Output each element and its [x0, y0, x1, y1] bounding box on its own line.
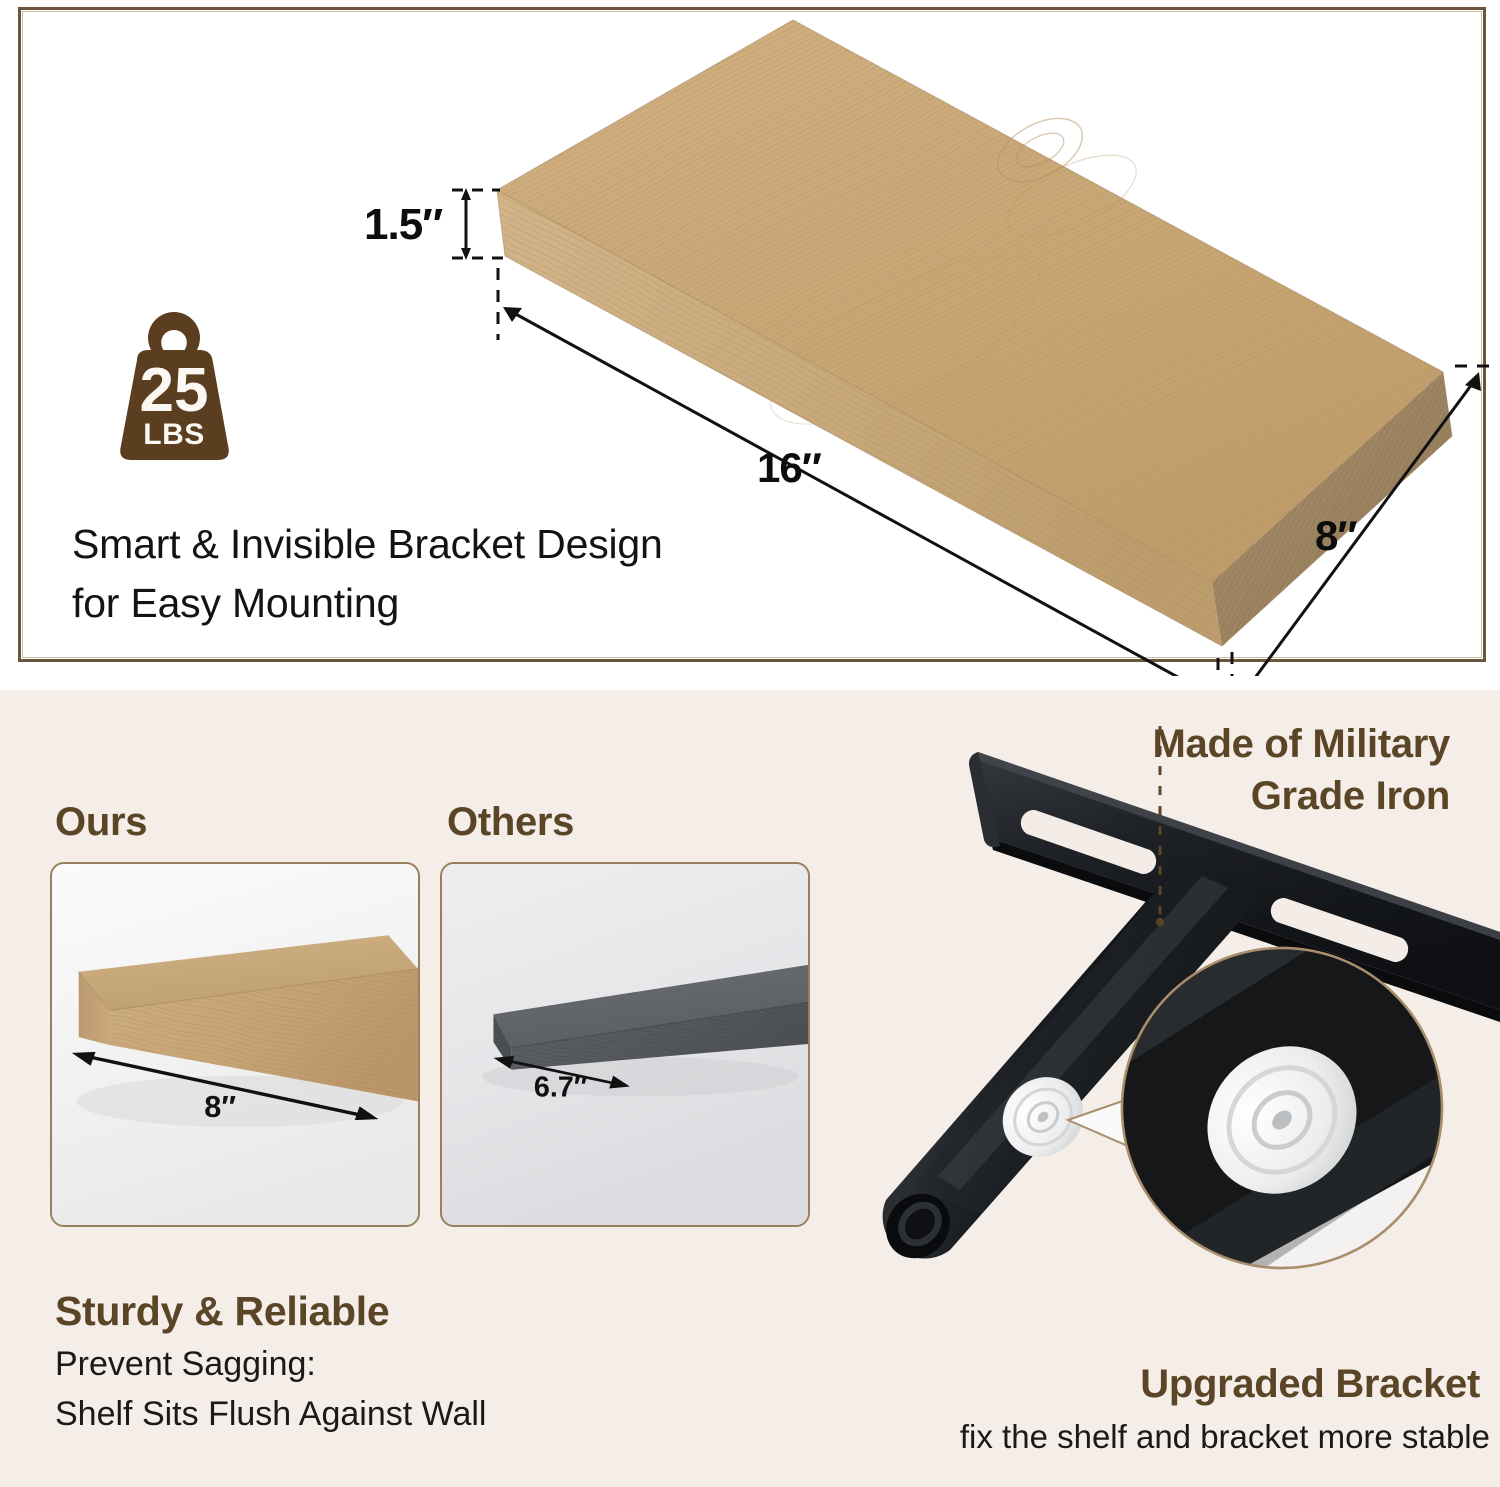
ours-shelf-photo: 8″	[52, 864, 418, 1225]
weight-capacity-badge: 25 LBS	[104, 306, 244, 474]
dimension-label-length: 16″	[757, 444, 821, 492]
sturdy-title: Sturdy & Reliable	[55, 1288, 389, 1335]
iron-line-2: Grade Iron	[1251, 774, 1450, 818]
weight-icon: 25 LBS	[104, 306, 244, 474]
headline-line-2: for Easy Mounting	[72, 574, 902, 633]
upgraded-bracket-title: Upgraded Bracket	[800, 1362, 1480, 1407]
dimension-label-depth: 8″	[1315, 512, 1356, 560]
headline: Smart & Invisible Bracket Design for Eas…	[72, 515, 902, 634]
comparison-label-ours: Ours	[55, 800, 147, 845]
comparison-photo-others: 6.7″	[440, 862, 810, 1227]
comparison-label-others: Others	[447, 800, 574, 845]
product-infographic: 25 LBS 25 LBS Smart & Invisible Bracket …	[0, 0, 1500, 1487]
top-panel: 25 LBS 25 LBS Smart & Invisible Bracket …	[0, 0, 1500, 676]
dimension-label-thickness: 1.5″	[364, 200, 442, 250]
iron-line-1: Made of Military	[1153, 722, 1450, 766]
svg-text:6.7″: 6.7″	[534, 1071, 588, 1103]
upgraded-bracket-subtitle: fix the shelf and bracket more stable	[800, 1418, 1490, 1456]
military-grade-iron-title: Made of Military Grade Iron	[940, 718, 1450, 822]
svg-text:25: 25	[140, 356, 209, 425]
sturdy-line-1: Prevent Sagging:	[55, 1345, 316, 1384]
headline-line-1: Smart & Invisible Bracket Design	[72, 521, 663, 567]
others-shelf-photo: 6.7″	[442, 864, 808, 1225]
svg-text:8″: 8″	[204, 1090, 236, 1124]
sturdy-line-2: Shelf Sits Flush Against Wall	[55, 1395, 486, 1434]
comparison-photo-ours: 8″	[50, 862, 420, 1227]
svg-text:LBS: LBS	[143, 418, 205, 451]
